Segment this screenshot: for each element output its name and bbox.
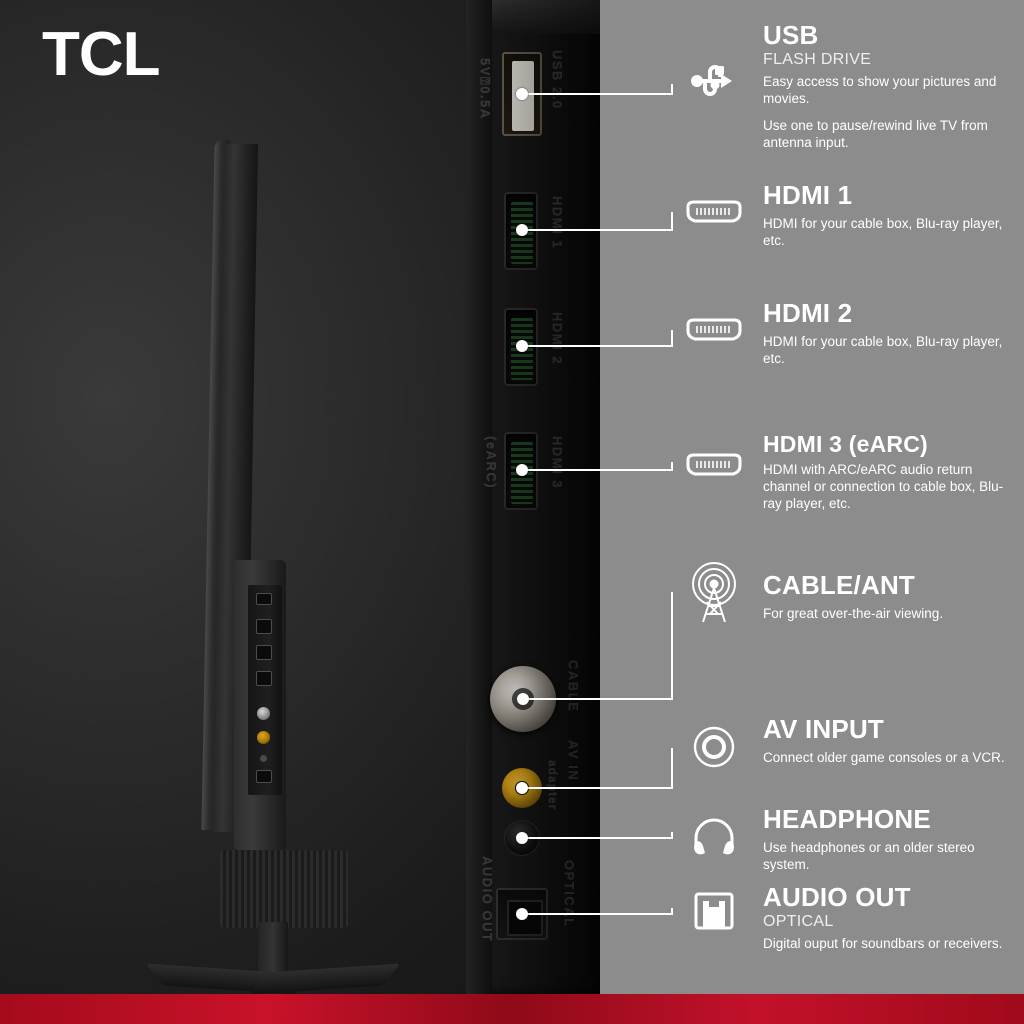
hdmi-icon xyxy=(683,448,745,482)
hdmi2-label: HDMI 2 xyxy=(550,312,565,365)
mini-av-port xyxy=(257,731,270,744)
hdmi2-body: HDMI for your cable box, Blu-ray player,… xyxy=(763,333,1018,367)
optical-anchor-dot xyxy=(516,908,528,920)
mini-optical-port xyxy=(256,770,272,783)
feature-callout-list: USB FLASH DRIVE Easy access to show your… xyxy=(600,0,1024,994)
mini-headphone-port xyxy=(260,755,267,762)
audio-out-title: AUDIO OUT xyxy=(763,884,1018,912)
usb-version-label: USB 2.0 xyxy=(550,50,565,110)
headphone-body: Use headphones or an older stereo system… xyxy=(763,839,1018,873)
tv-speaker-grille xyxy=(220,850,348,928)
hdmi1-label: HDMI 1 xyxy=(550,196,565,249)
usb-text-block: USB FLASH DRIVE Easy access to show your… xyxy=(763,22,1018,151)
tv-side-profile xyxy=(150,130,380,970)
hdmi2-text-block: HDMI 2 HDMI for your cable box, Blu-ray … xyxy=(763,300,1018,367)
usb-voltage-label: 5V⍰0.5A xyxy=(478,58,493,120)
av-input-title: AV INPUT xyxy=(763,716,1018,744)
av-input-body: Connect older game consoles or a VCR. xyxy=(763,749,1018,766)
audio-out-text-block: AUDIO OUT OPTICAL Digital ouput for soun… xyxy=(763,884,1018,952)
headphone-text-block: HEADPHONE Use headphones or an older ste… xyxy=(763,806,1018,873)
av-in-label: AV IN xyxy=(566,740,581,781)
hdmi3-label: HDMI 3 xyxy=(550,436,565,489)
av-adapter-label: adapter xyxy=(546,760,560,810)
hdmi3-text-block: HDMI 3 (eARC) HDMI with ARC/eARC audio r… xyxy=(763,432,1018,512)
panel-left-lip xyxy=(466,0,492,994)
optical-port-icon xyxy=(683,888,745,934)
rca-jack-icon xyxy=(683,724,745,770)
brand-accent-bar xyxy=(0,994,1024,1024)
headphones-icon xyxy=(683,812,745,858)
tv-product-photo: TCL 5V⍰0.5A USB 2.0 HDMI 1 xyxy=(0,0,600,994)
headphone-title: HEADPHONE xyxy=(763,806,1018,834)
hdmi-icon xyxy=(683,195,745,229)
tv-mini-port-strip xyxy=(248,585,282,795)
cable-label: CABLE xyxy=(566,660,581,712)
audio-out-subtitle: OPTICAL xyxy=(763,913,1018,931)
hdmi3-anchor-dot xyxy=(516,464,528,476)
mini-hdmi3-port xyxy=(256,671,272,686)
hdmi1-title: HDMI 1 xyxy=(763,182,1018,210)
tcl-brand-logo: TCL xyxy=(42,24,160,86)
mini-usb-port xyxy=(256,593,272,605)
cable-ant-title: CABLE/ANT xyxy=(763,572,1018,600)
cable-ant-body: For great over-the-air viewing. xyxy=(763,605,1018,622)
headphone-anchor-dot xyxy=(516,832,528,844)
hdmi1-body: HDMI for your cable box, Blu-ray player,… xyxy=(763,215,1018,249)
hdmi-icon xyxy=(683,313,745,347)
usb-subtitle: FLASH DRIVE xyxy=(763,51,1018,69)
usb-anchor-dot xyxy=(516,88,528,100)
hdmi2-title: HDMI 2 xyxy=(763,300,1018,328)
cable-ant-text-block: CABLE/ANT For great over-the-air viewing… xyxy=(763,572,1018,622)
audio-out-body: Digital ouput for soundbars or receivers… xyxy=(763,935,1018,952)
mini-coax-port xyxy=(257,707,270,720)
hdmi1-anchor-dot xyxy=(516,224,528,236)
hdmi3-title: HDMI 3 (eARC) xyxy=(763,432,1018,456)
optical-label: OPTICAL xyxy=(562,860,577,928)
audio-out-label: AUDIO OUT xyxy=(480,856,495,942)
usb-body: Easy access to show your pictures and mo… xyxy=(763,73,1018,107)
hdmi1-text-block: HDMI 1 HDMI for your cable box, Blu-ray … xyxy=(763,182,1018,249)
hdmi3-earc-label: (eARC) xyxy=(484,436,499,489)
mini-hdmi1-port xyxy=(256,619,272,634)
panel-top-bevel xyxy=(492,0,600,34)
antenna-tower-icon xyxy=(683,562,745,624)
hdmi3-body: HDMI with ARC/eARC audio return channel … xyxy=(763,461,1018,512)
mini-hdmi2-port xyxy=(256,645,272,660)
hdmi2-anchor-dot xyxy=(516,340,528,352)
av-anchor-dot xyxy=(516,782,528,794)
usb-icon xyxy=(683,58,745,104)
usb-body-2: Use one to pause/rewind live TV from ant… xyxy=(763,117,1018,151)
rear-connector-panel: 5V⍰0.5A USB 2.0 HDMI 1 HDMI 2 (eARC) HDM… xyxy=(466,0,600,994)
usb-title: USB xyxy=(763,22,1018,50)
cable-anchor-dot xyxy=(517,693,529,705)
av-input-text-block: AV INPUT Connect older game consoles or … xyxy=(763,716,1018,766)
